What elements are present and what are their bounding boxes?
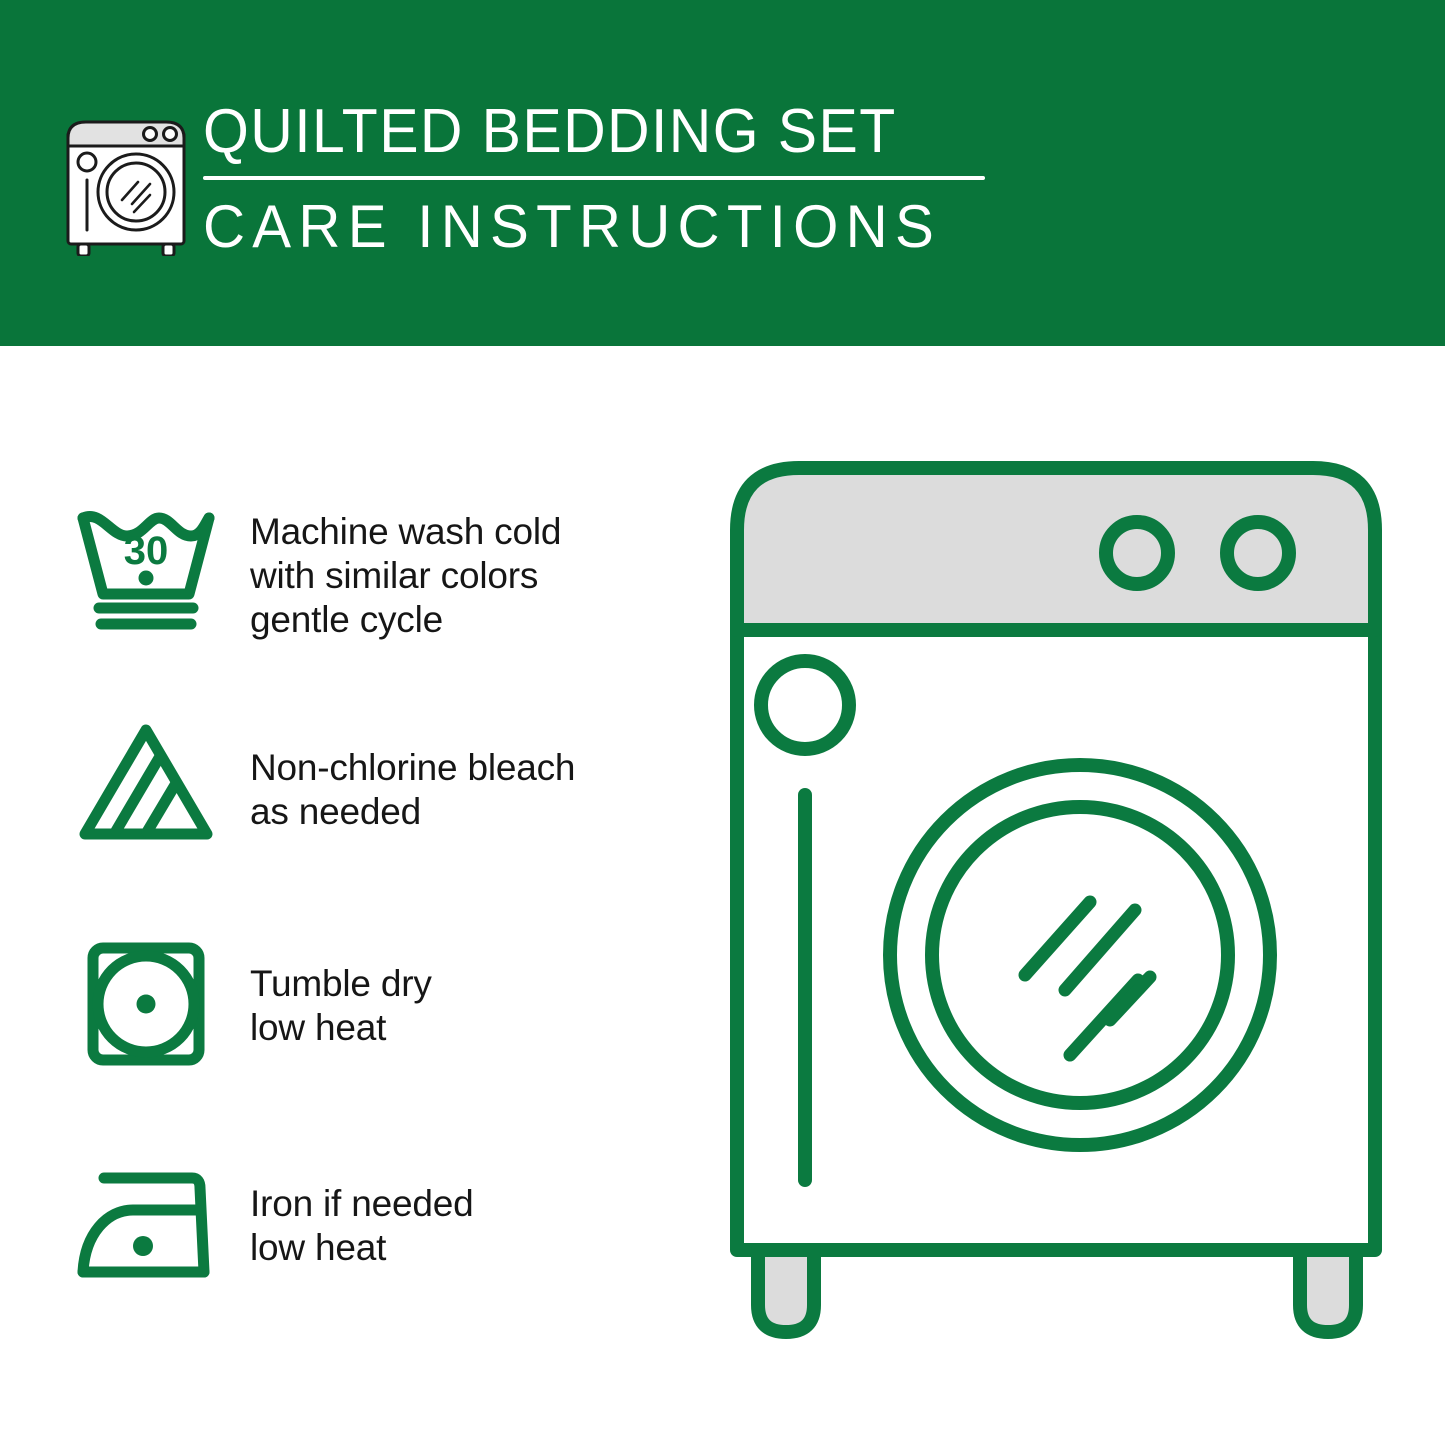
page-header: QUILTED BEDDING SET CARE INSTRUCTIONS — [0, 0, 1445, 346]
care-instruction-text: Machine wash cold with similar colors ge… — [250, 496, 561, 642]
wash-tub-30-gentle-icon: 30 — [62, 496, 230, 636]
care-line: Machine wash cold — [250, 510, 561, 554]
care-line: Tumble dry — [250, 962, 432, 1006]
header-divider — [203, 176, 985, 180]
page-subtitle: CARE INSTRUCTIONS — [203, 194, 969, 260]
iron-low-heat-icon — [62, 1154, 230, 1294]
tumble-dry-low-icon — [62, 934, 230, 1074]
care-line: Iron if needed — [250, 1182, 473, 1226]
front-load-washing-machine-illustration — [720, 450, 1420, 1380]
non-chlorine-bleach-triangle-icon — [62, 714, 230, 854]
care-line: with similar colors — [250, 554, 561, 598]
care-line: gentle cycle — [250, 598, 561, 642]
page-title: QUILTED BEDDING SET — [203, 98, 954, 166]
care-instruction-row: 30 Machine wash cold with similar colors… — [62, 496, 702, 642]
header-text-block: QUILTED BEDDING SET CARE INSTRUCTIONS — [203, 98, 993, 260]
care-instruction-text: Iron if needed low heat — [250, 1154, 473, 1270]
wash-temperature-label: 30 — [124, 529, 169, 573]
care-instruction-list: 30 Machine wash cold with similar colors… — [0, 346, 720, 1445]
care-instruction-row: Non-chlorine bleach as needed — [62, 714, 702, 854]
care-line: low heat — [250, 1006, 432, 1050]
care-instruction-row: Tumble dry low heat — [62, 934, 702, 1074]
care-instructions-page: QUILTED BEDDING SET CARE INSTRUCTIONS 30 — [0, 0, 1445, 1445]
care-instruction-text: Tumble dry low heat — [250, 934, 432, 1050]
care-line: low heat — [250, 1226, 473, 1270]
washing-machine-icon — [62, 104, 190, 256]
care-instruction-text: Non-chlorine bleach as needed — [250, 714, 575, 834]
care-line: as needed — [250, 790, 575, 834]
care-line: Non-chlorine bleach — [250, 746, 575, 790]
care-instruction-row: Iron if needed low heat — [62, 1154, 702, 1294]
